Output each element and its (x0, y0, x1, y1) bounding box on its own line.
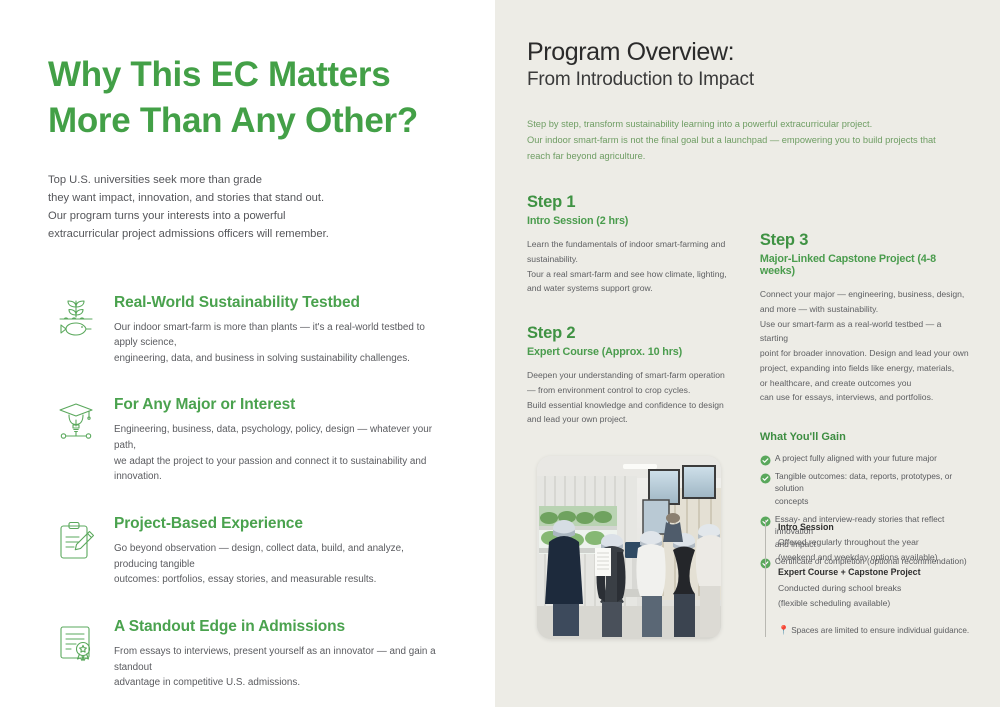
limited-spaces-text: Spaces are limited to ensure individual … (791, 625, 969, 637)
feature-item-project-based: Project-Based Experience Go beyond obser… (48, 513, 449, 588)
clipboard-pencil-icon (48, 513, 104, 563)
poster-page: Why This EC Matters More Than Any Other?… (0, 0, 1000, 707)
check-circle-icon (760, 471, 771, 482)
feature-title: A Standout Edge in Admissions (114, 618, 449, 636)
red-pin-icon: 📍 (778, 625, 789, 637)
step-block-2: Step 2 Expert Course (Approx. 10 hrs) De… (527, 324, 750, 427)
step-description: Learn the fundamentals of indoor smart-f… (527, 237, 750, 296)
graduation-cap-lightbulb-icon (48, 394, 104, 444)
schedule-course-heading: Expert Course + Capstone Project (778, 565, 975, 580)
check-circle-icon (760, 453, 771, 464)
certificate-award-icon (48, 616, 104, 666)
feature-body: For Any Major or Interest Engineering, b… (104, 394, 449, 485)
lead-paragraph: Top U.S. universities seek more than gra… (48, 171, 449, 244)
feature-body: Project-Based Experience Go beyond obser… (104, 513, 449, 588)
step-subtitle: Major-Linked Capstone Project (4-8 weeks… (760, 253, 970, 277)
step-label: Step 2 (527, 324, 750, 343)
smart-farm-tour-photo (537, 456, 721, 639)
step-description: Deepen your understanding of smart-farm … (527, 368, 750, 427)
step-label: Step 3 (760, 231, 970, 250)
step-subtitle: Expert Course (Approx. 10 hrs) (527, 346, 750, 358)
feature-desc: From essays to interviews, present yours… (114, 644, 449, 691)
schedule-info-block: Intro Session Offered regularly througho… (765, 520, 975, 637)
feature-item-any-major: For Any Major or Interest Engineering, b… (48, 394, 449, 485)
program-overview-subtitle: From Introduction to Impact (527, 69, 970, 91)
feature-desc: Go beyond observation — design, collect … (114, 541, 449, 588)
step-label: Step 1 (527, 193, 750, 212)
feature-title: Real-World Sustainability Testbed (114, 294, 449, 312)
gain-list-item: A project fully aligned with your future… (760, 452, 970, 465)
feature-list: Real-World Sustainability Testbed Our in… (48, 292, 449, 691)
step-block-3: Step 3 Major-Linked Capstone Project (4-… (760, 231, 970, 405)
steps-column-right: Step 3 Major-Linked Capstone Project (4-… (750, 193, 970, 573)
feature-body: Real-World Sustainability Testbed Our in… (104, 292, 449, 367)
program-overview-title: Program Overview: (527, 38, 970, 66)
schedule-intro-heading: Intro Session (778, 520, 975, 535)
gain-item-text: Tangible outcomes: data, reports, protot… (775, 470, 970, 508)
limited-spaces-note: 📍 Spaces are limited to ensure individua… (778, 625, 975, 637)
feature-item-sustainability-testbed: Real-World Sustainability Testbed Our in… (48, 292, 449, 367)
feature-item-standout-edge: A Standout Edge in Admissions From essay… (48, 616, 449, 691)
program-intro-paragraph: Step by step, transform sustainability l… (527, 117, 967, 165)
schedule-course-lines: Conducted during school breaks (flexible… (778, 581, 975, 611)
feature-body: A Standout Edge in Admissions From essay… (104, 616, 449, 691)
left-panel: Why This EC Matters More Than Any Other?… (0, 0, 495, 707)
gain-item-text: A project fully aligned with your future… (775, 452, 937, 465)
feature-desc: Engineering, business, data, psychology,… (114, 422, 449, 485)
feature-title: For Any Major or Interest (114, 396, 449, 414)
gain-section-title: What You'll Gain (760, 431, 970, 443)
step-subtitle: Intro Session (2 hrs) (527, 215, 750, 227)
step-block-1: Step 1 Intro Session (2 hrs) Learn the f… (527, 193, 750, 296)
gain-list-item: Tangible outcomes: data, reports, protot… (760, 470, 970, 508)
step-description: Connect your major — engineering, busine… (760, 287, 970, 405)
plant-fish-aquaponics-icon (48, 292, 104, 342)
feature-title: Project-Based Experience (114, 515, 449, 533)
page-title: Why This EC Matters More Than Any Other? (48, 52, 449, 143)
feature-desc: Our indoor smart-farm is more than plant… (114, 320, 449, 367)
schedule-intro-lines: Offered regularly throughout the year (w… (778, 535, 975, 565)
